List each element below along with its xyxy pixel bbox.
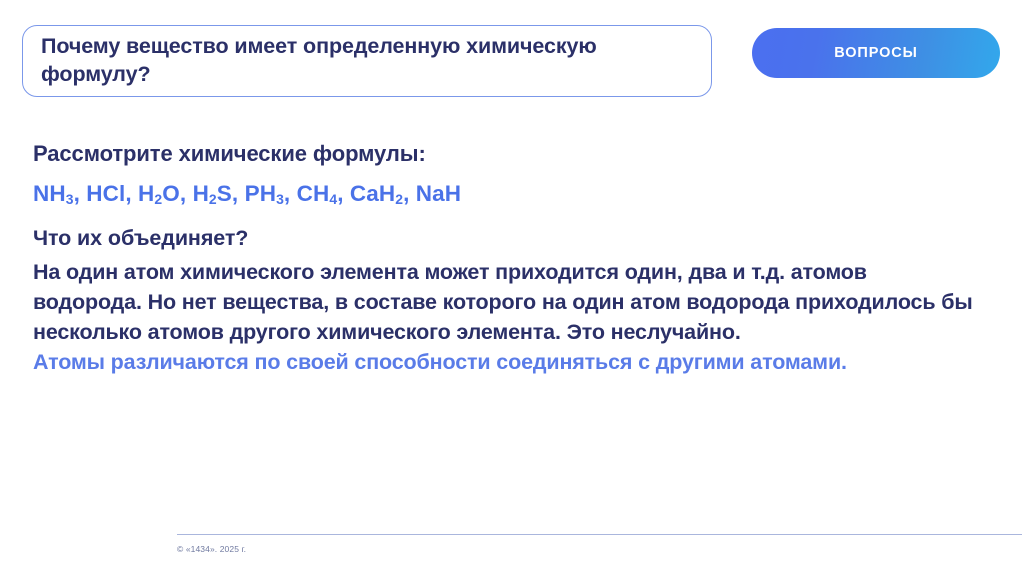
chemical-formula: NH3 xyxy=(33,181,74,206)
chemical-formula-list: NH3, HCl, H2O, H2S, PH3, CH4, CaH2, NaH xyxy=(33,179,1003,208)
section-badge-label: ВОПРОСЫ xyxy=(834,45,918,61)
slide-body: Рассмотрите химические формулы: NH3, HCl… xyxy=(33,140,1003,378)
formula-subscript: 2 xyxy=(395,191,403,207)
sub-question-text: Что их объединяет? xyxy=(33,224,1003,252)
chemical-formula: NaH xyxy=(416,181,461,206)
question-callout-text: Почему вещество имеет определенную химич… xyxy=(41,33,695,88)
formula-subscript: 2 xyxy=(209,191,217,207)
footer-divider xyxy=(177,534,1022,535)
chemical-formula: HCl xyxy=(86,181,125,206)
slide-footer: © «1434». 2025 г. xyxy=(177,534,1022,554)
formula-subscript: 4 xyxy=(329,191,337,207)
slide-header: Почему вещество имеет определенную химич… xyxy=(0,0,1024,110)
conclusion-paragraph: Атомы различаются по своей способности с… xyxy=(33,348,993,378)
chemical-formula: PH3 xyxy=(245,181,284,206)
section-badge[interactable]: ВОПРОСЫ xyxy=(752,28,1000,78)
chemical-formula: H2O xyxy=(138,181,180,206)
lead-instruction-text: Рассмотрите химические формулы: xyxy=(33,140,1003,169)
chemical-formula: H2S xyxy=(193,181,232,206)
formula-subscript: 2 xyxy=(154,191,162,207)
question-callout-box: Почему вещество имеет определенную химич… xyxy=(22,25,712,97)
explanation-paragraph: На один атом химического элемента может … xyxy=(33,258,973,348)
formula-subscript: 3 xyxy=(66,191,74,207)
formula-subscript: 3 xyxy=(276,191,284,207)
chemical-formula: CaH2 xyxy=(350,181,403,206)
footer-copyright: © «1434». 2025 г. xyxy=(177,544,1022,554)
chemical-formula: CH4 xyxy=(297,181,338,206)
